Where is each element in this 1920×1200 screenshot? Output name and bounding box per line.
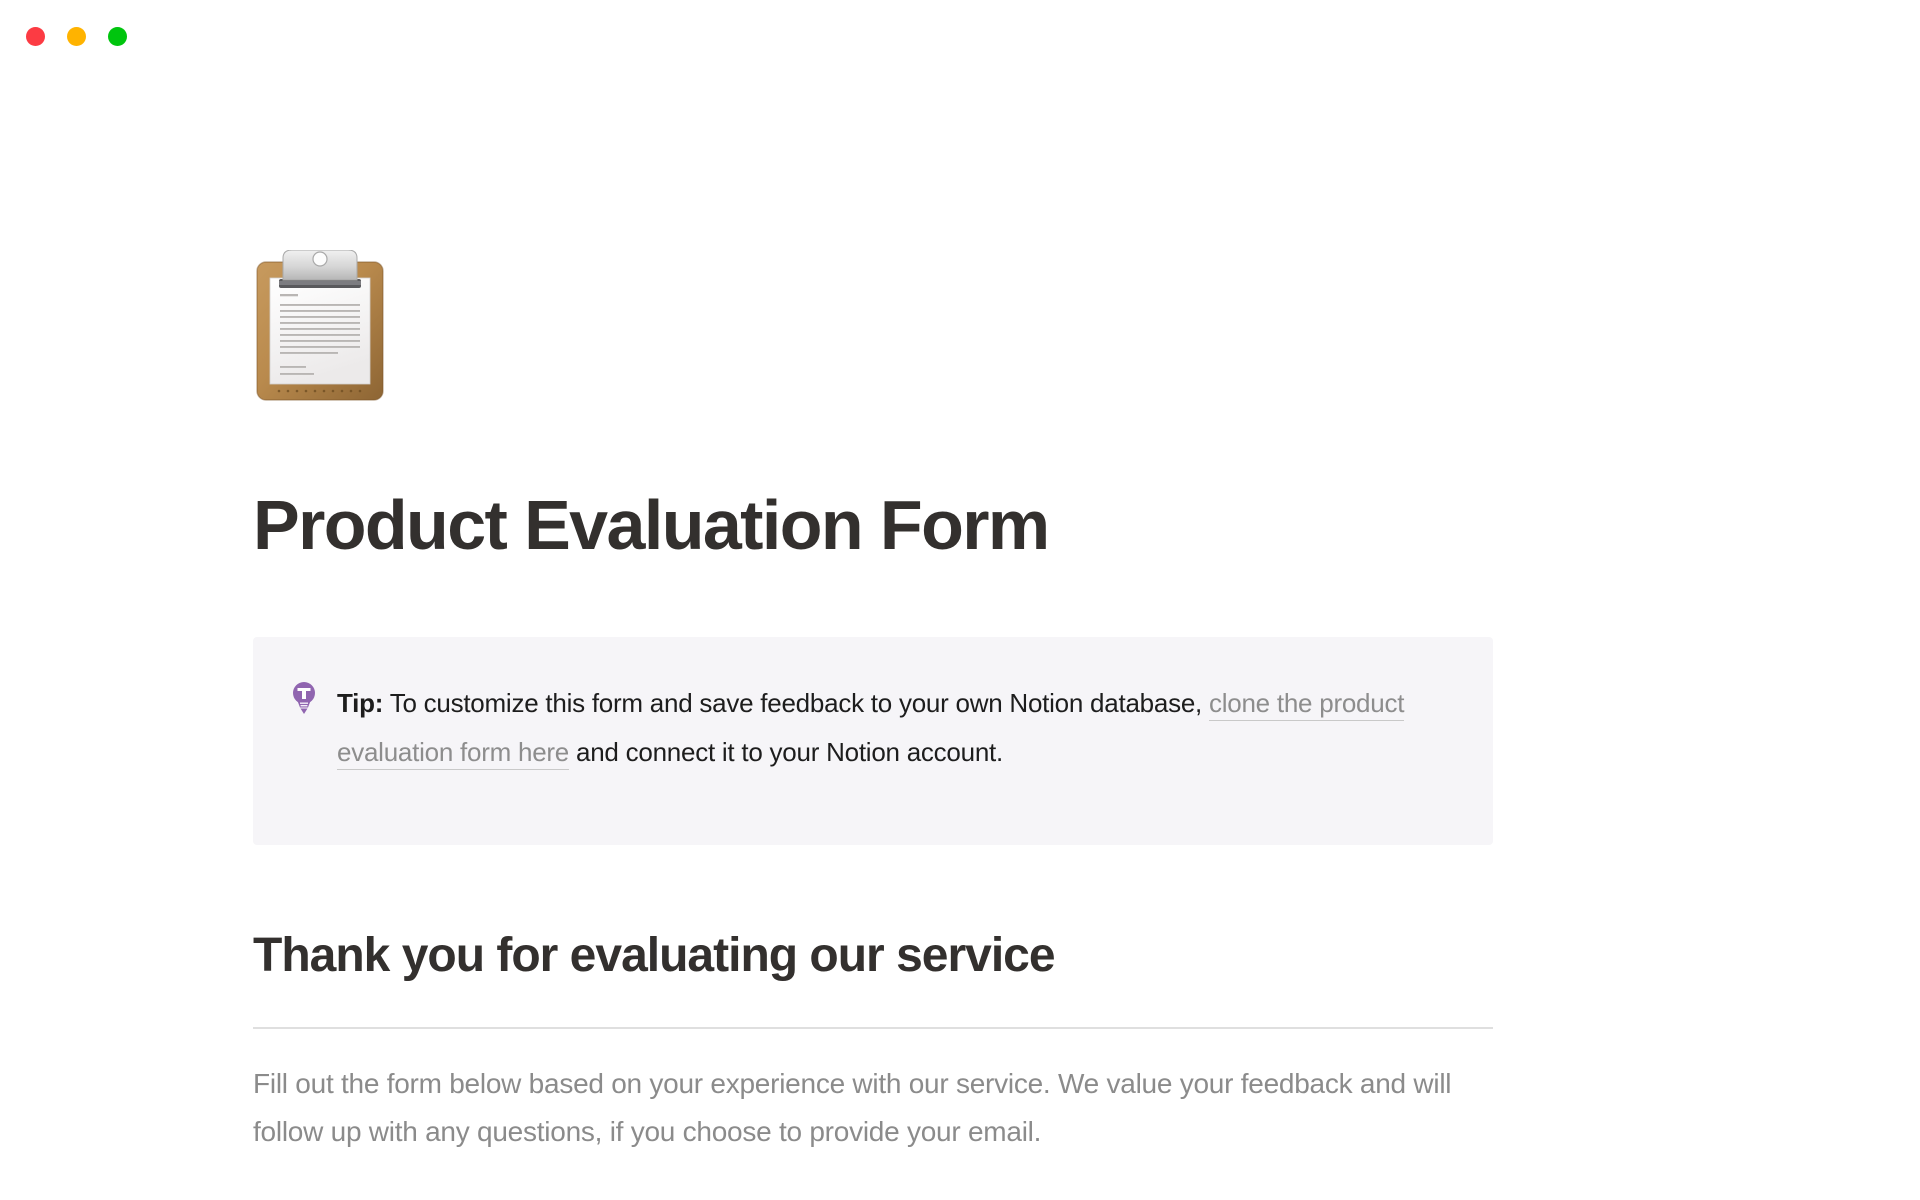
maximize-button[interactable] <box>108 27 127 46</box>
tip-text-before-link: To customize this form and save feedback… <box>383 688 1209 718</box>
section-divider <box>253 1027 1493 1029</box>
intro-paragraph: Fill out the form below based on your ex… <box>253 1060 1498 1156</box>
traffic-lights <box>26 27 127 46</box>
minimize-button[interactable] <box>67 27 86 46</box>
window-title-bar <box>0 0 1920 72</box>
tip-label: Tip: <box>337 688 383 718</box>
tip-callout-text: Tip: To customize this form and save fee… <box>337 678 1453 805</box>
clipboard-emoji-icon[interactable] <box>253 250 387 402</box>
tip-text-after-link: and connect it to your Notion account. <box>569 737 1003 767</box>
lightbulb-icon <box>291 681 317 715</box>
section-heading: Thank you for evaluating our service <box>253 930 1055 983</box>
close-button[interactable] <box>26 27 45 46</box>
tip-callout: Tip: To customize this form and save fee… <box>253 637 1493 845</box>
page-title: Product Evaluation Form <box>253 490 1049 560</box>
